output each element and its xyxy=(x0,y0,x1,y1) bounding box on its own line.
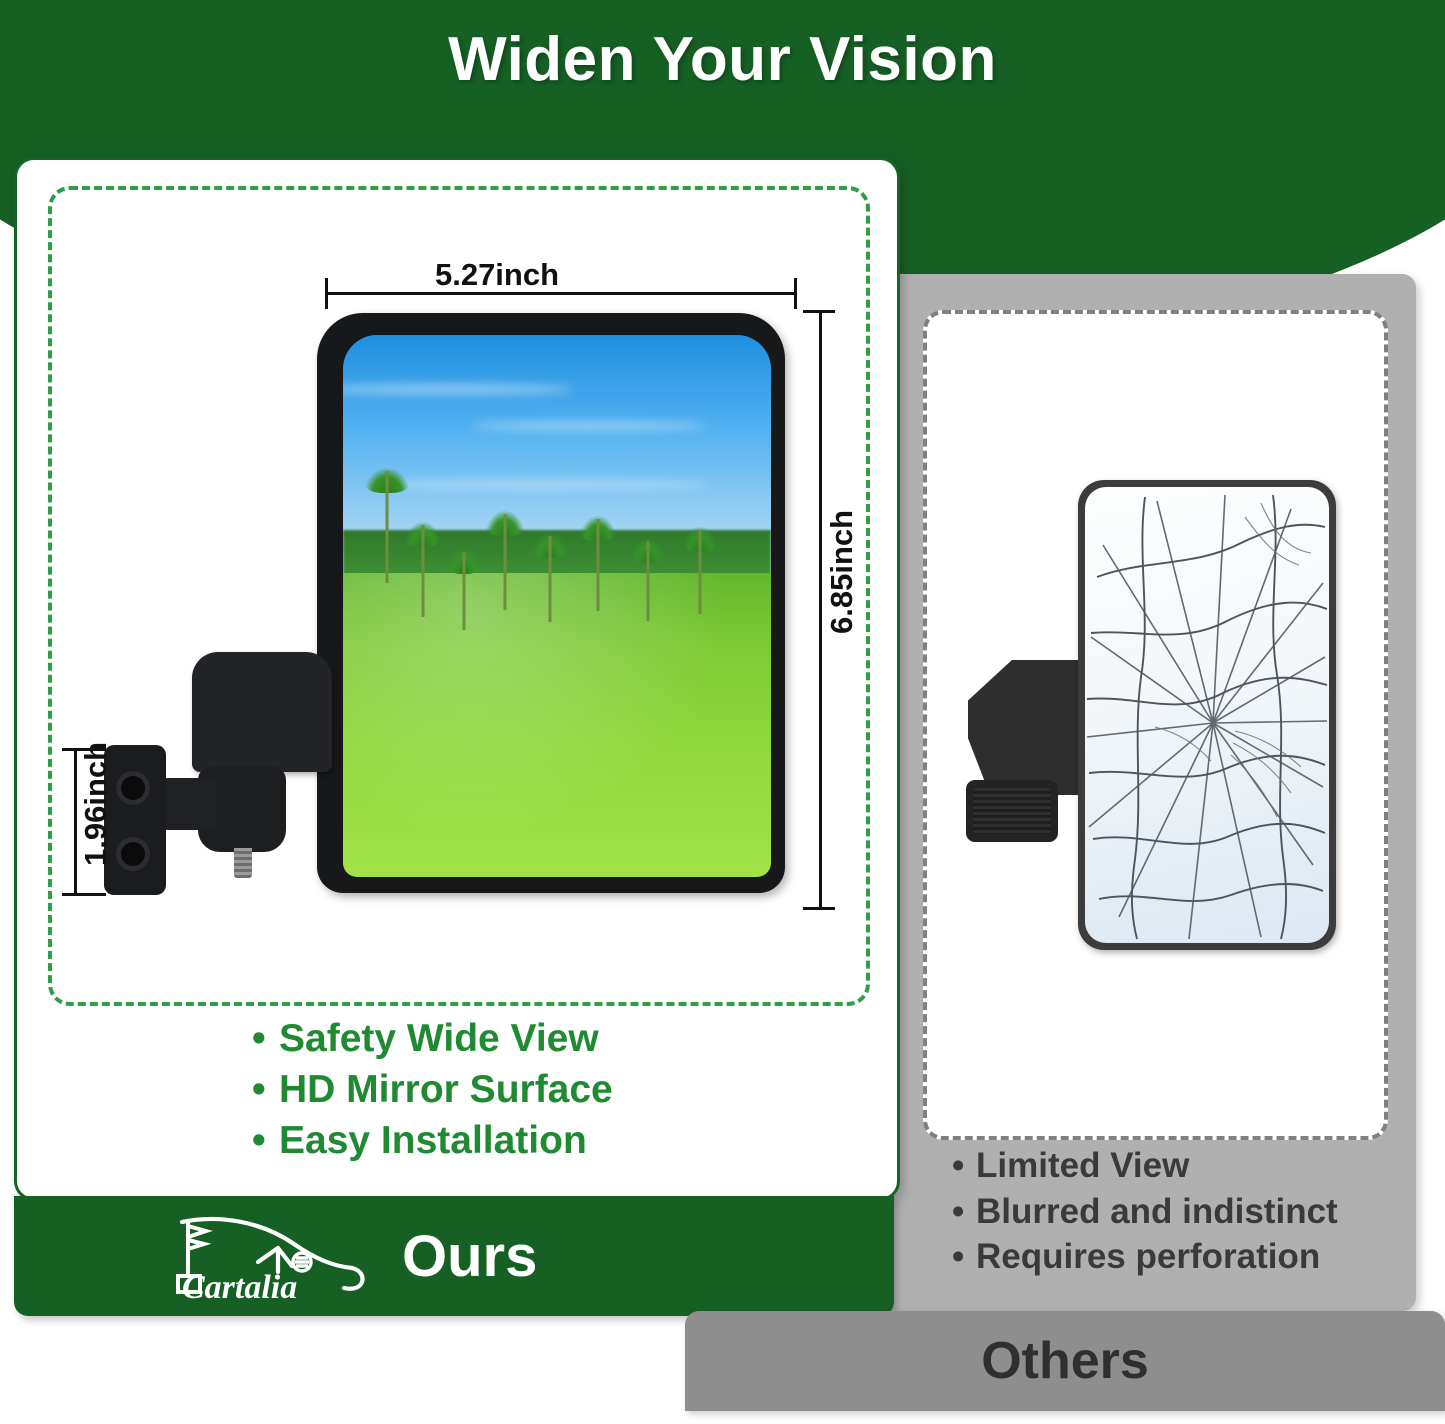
ours-mirror-screw xyxy=(234,848,252,878)
others-mirror-barrel xyxy=(966,780,1058,842)
palm-tree-icon xyxy=(630,541,666,621)
dim-height-tick-bottom xyxy=(803,907,835,910)
dim-height-label: 6.85inch xyxy=(824,510,860,634)
palm-tree-icon xyxy=(681,530,719,614)
cartalia-logo: Cartalia xyxy=(166,1210,372,1302)
dim-height-tick-top xyxy=(803,310,835,313)
bullet-dot-icon: • xyxy=(252,1013,279,1064)
ours-mirror-housing xyxy=(317,313,785,893)
list-item: •Easy Installation xyxy=(252,1115,812,1166)
cartalia-wordmark: Cartalia xyxy=(182,1269,297,1302)
list-item: •Requires perforation xyxy=(952,1234,1412,1280)
list-item: •HD Mirror Surface xyxy=(252,1064,812,1115)
bullet-dot-icon: • xyxy=(952,1234,976,1280)
dim-width-line xyxy=(325,292,797,295)
ours-feature-list: •Safety Wide View •HD Mirror Surface •Ea… xyxy=(252,1013,812,1166)
ours-mirror-product xyxy=(317,313,785,893)
bullet-dot-icon: • xyxy=(952,1143,976,1189)
dim-width-tick-right xyxy=(794,278,797,309)
dim-width-tick-left xyxy=(325,278,328,309)
list-item-label: Blurred and indistinct xyxy=(976,1192,1338,1231)
list-item-label: Requires perforation xyxy=(976,1237,1320,1276)
list-item-label: Safety Wide View xyxy=(279,1017,599,1060)
dim-height-line xyxy=(819,310,822,910)
bullet-dot-icon: • xyxy=(252,1115,279,1166)
list-item: •Safety Wide View xyxy=(252,1013,812,1064)
dim-width-label: 5.27inch xyxy=(435,257,559,293)
dim-mount-label: 1.96inch xyxy=(78,742,114,866)
palm-tree-icon xyxy=(403,525,443,617)
list-item: •Blurred and indistinct xyxy=(952,1189,1412,1235)
cracked-glass-icon xyxy=(1085,487,1329,943)
ours-mirror-arm xyxy=(192,652,332,772)
dim-mount-tick-bottom xyxy=(62,893,106,896)
palm-tree-icon xyxy=(446,552,482,630)
list-item: •Limited View xyxy=(952,1143,1412,1189)
bracket-hole-icon xyxy=(116,837,150,871)
ours-footer-label: Ours xyxy=(402,1223,537,1290)
cloud-icon xyxy=(343,384,574,394)
palm-tree-icon xyxy=(484,514,526,610)
others-footer-bar: Others xyxy=(685,1311,1445,1411)
list-item-label: Easy Installation xyxy=(279,1119,587,1162)
bullet-dot-icon: • xyxy=(252,1064,279,1115)
dim-mount-line xyxy=(74,748,77,896)
list-item-label: HD Mirror Surface xyxy=(279,1068,613,1111)
others-mirror-product xyxy=(1078,480,1336,950)
others-mirror-housing xyxy=(1078,480,1336,950)
crack-lines-icon xyxy=(1085,487,1329,943)
ours-mirror-neck xyxy=(160,778,216,830)
cloud-icon xyxy=(471,422,706,430)
golf-course-reflection-icon xyxy=(343,335,771,877)
others-footer-label: Others xyxy=(981,1331,1149,1391)
others-feature-list: •Limited View •Blurred and indistinct •R… xyxy=(952,1143,1412,1280)
cartalia-logo-icon: Cartalia xyxy=(166,1210,372,1302)
palm-tree-icon xyxy=(531,536,569,622)
list-item-label: Limited View xyxy=(976,1146,1189,1185)
page-title: Widen Your Vision xyxy=(0,0,1445,118)
bracket-hole-icon xyxy=(116,771,150,805)
bullet-dot-icon: • xyxy=(952,1189,976,1235)
palm-tree-icon xyxy=(578,519,618,611)
ours-footer-bar: Cartalia Ours xyxy=(14,1196,894,1316)
